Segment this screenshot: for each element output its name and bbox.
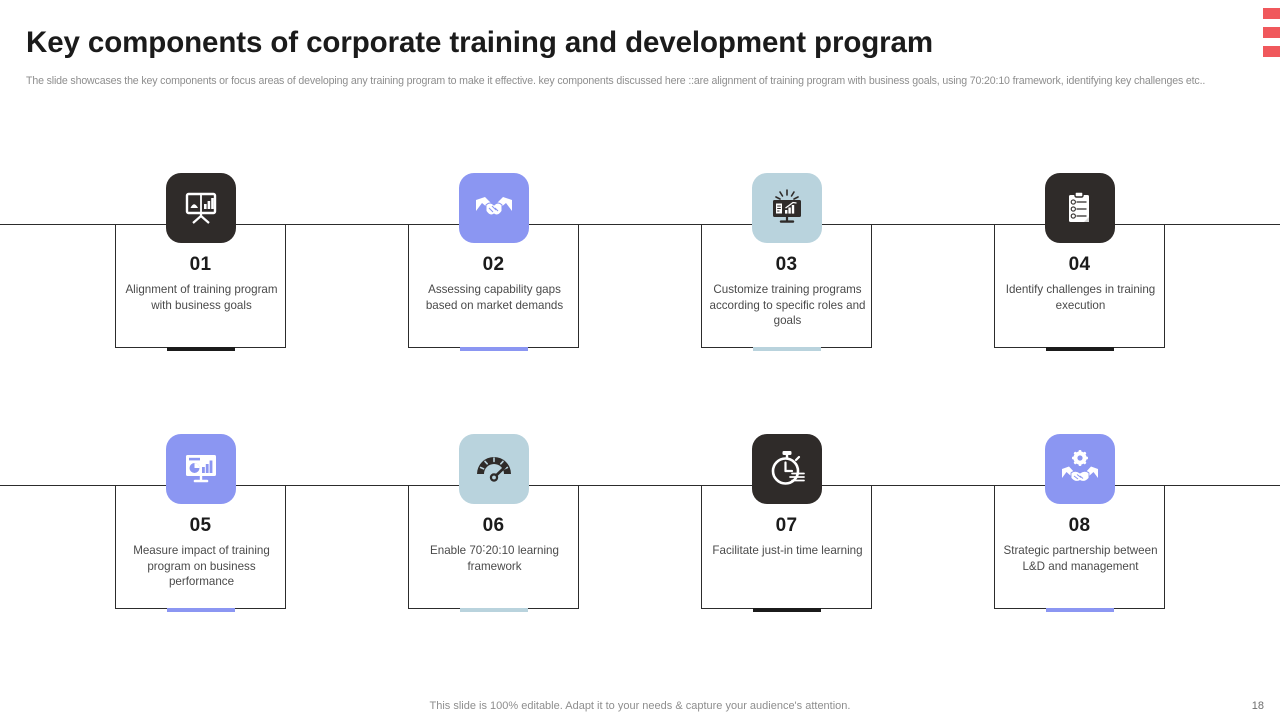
clipboard-checklist-icon [1061, 189, 1099, 227]
card-accent-07 [753, 608, 821, 612]
card-number-03: 03 [702, 254, 871, 276]
card-number-02: 02 [409, 254, 578, 276]
slide-subtitle: The slide showcases the key components o… [26, 74, 1244, 89]
icon-tile-03 [752, 173, 822, 243]
card-text-04: Identify challenges in training executio… [999, 282, 1162, 313]
card-text-05: Measure impact of training program on bu… [120, 543, 283, 590]
icon-tile-08 [1045, 434, 1115, 504]
monitor-chart-icon [766, 187, 808, 229]
stopwatch-icon [766, 448, 808, 490]
handshake-icon [473, 187, 515, 229]
page-number: 18 [1252, 700, 1264, 712]
component-card-07[interactable]: 07 Facilitate just-in time learning [701, 485, 872, 609]
card-text-07: Facilitate just-in time learning [706, 543, 869, 559]
red-mark-1 [1263, 8, 1280, 19]
card-row-top: 01 Alignment of training program with bu… [0, 184, 1280, 414]
icon-tile-05 [166, 434, 236, 504]
red-mark-3 [1263, 46, 1280, 57]
red-mark-2 [1263, 27, 1280, 38]
component-card-01[interactable]: 01 Alignment of training program with bu… [115, 224, 286, 348]
component-card-08[interactable]: 08 Strategic partnership between L&D and… [994, 485, 1165, 609]
card-text-08: Strategic partnership between L&D and ma… [999, 543, 1162, 574]
card-text-01: Alignment of training program with busin… [120, 282, 283, 313]
presentation-board-icon [181, 188, 221, 228]
speedometer-gauge-icon [472, 447, 516, 491]
card-accent-08 [1046, 608, 1114, 612]
page-title: Key components of corporate training and… [26, 26, 933, 60]
card-number-06: 06 [409, 515, 578, 537]
partnership-gear-icon [1059, 448, 1101, 490]
component-card-02[interactable]: 02 Assessing capability gaps based on ma… [408, 224, 579, 348]
icon-tile-06 [459, 434, 529, 504]
card-text-06: Enable 70˸20:10 learning framework [413, 543, 576, 574]
card-number-08: 08 [995, 515, 1164, 537]
icon-tile-01 [166, 173, 236, 243]
component-card-04[interactable]: 04 Identify challenges in training execu… [994, 224, 1165, 348]
icon-tile-02 [459, 173, 529, 243]
card-accent-02 [460, 347, 528, 351]
card-accent-05 [167, 608, 235, 612]
component-card-06[interactable]: 06 Enable 70˸20:10 learning framework [408, 485, 579, 609]
card-accent-03 [753, 347, 821, 351]
card-number-07: 07 [702, 515, 871, 537]
card-number-05: 05 [116, 515, 285, 537]
dashboard-analytics-icon [180, 448, 222, 490]
footer-note: This slide is 100% editable. Adapt it to… [0, 700, 1280, 712]
corner-marks [1256, 0, 1280, 70]
card-text-02: Assessing capability gaps based on marke… [413, 282, 576, 313]
icon-tile-07 [752, 434, 822, 504]
card-accent-06 [460, 608, 528, 612]
component-card-03[interactable]: 03 Customize training programs according… [701, 224, 872, 348]
card-accent-01 [167, 347, 235, 351]
card-number-04: 04 [995, 254, 1164, 276]
card-text-03: Customize training programs according to… [706, 282, 869, 329]
icon-tile-04 [1045, 173, 1115, 243]
card-accent-04 [1046, 347, 1114, 351]
component-card-05[interactable]: 05 Measure impact of training program on… [115, 485, 286, 609]
card-row-bottom: 05 Measure impact of training program on… [0, 445, 1280, 675]
card-number-01: 01 [116, 254, 285, 276]
